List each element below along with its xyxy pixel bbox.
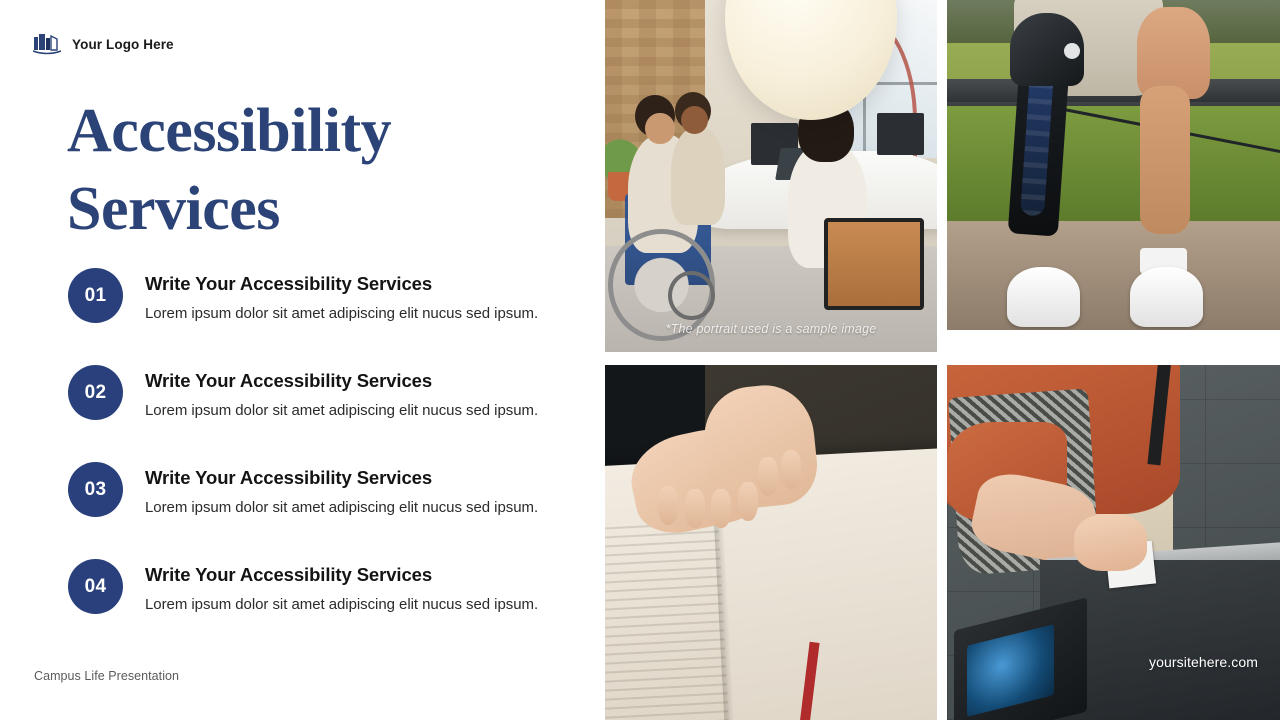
slide-root: Your Logo Here Accessibility Services 01… [0,0,1280,720]
item-text-block: Write Your Accessibility Services Lorem … [145,462,538,518]
photo-prosthetic-leg [947,0,1280,330]
photo-braille-book [605,365,937,720]
item-number-badge: 03 [68,462,123,517]
item-title: Write Your Accessibility Services [145,272,538,296]
item-number-badge: 04 [68,559,123,614]
item-title: Write Your Accessibility Services [145,563,538,587]
photo-artwork [605,365,937,720]
page-title: Accessibility Services [67,92,537,248]
sample-image-watermark: *The portrait used is a sample image [605,322,937,336]
list-item[interactable]: 03 Write Your Accessibility Services Lor… [68,462,588,518]
item-text-block: Write Your Accessibility Services Lorem … [145,365,538,421]
item-text-block: Write Your Accessibility Services Lorem … [145,559,538,615]
left-content-panel: Your Logo Here Accessibility Services 01… [0,0,605,720]
logo-lockup[interactable]: Your Logo Here [33,32,174,56]
item-description: Lorem ipsum dolor sit amet adipiscing el… [145,595,538,615]
photo-transit-gate: yoursitehere.com [947,365,1280,720]
item-title: Write Your Accessibility Services [145,466,538,490]
item-number-badge: 02 [68,365,123,420]
item-title: Write Your Accessibility Services [145,369,538,393]
page-title-line-2: Services [67,170,537,248]
item-number-badge: 01 [68,268,123,323]
page-title-line-1: Accessibility [67,92,537,170]
item-description: Lorem ipsum dolor sit amet adipiscing el… [145,401,538,421]
list-item[interactable]: 01 Write Your Accessibility Services Lor… [68,268,588,324]
building-logo-icon [33,32,61,56]
service-list: 01 Write Your Accessibility Services Lor… [68,268,588,615]
list-item[interactable]: 02 Write Your Accessibility Services Lor… [68,365,588,421]
item-text-block: Write Your Accessibility Services Lorem … [145,268,538,324]
item-description: Lorem ipsum dolor sit amet adipiscing el… [145,498,538,518]
item-description: Lorem ipsum dolor sit amet adipiscing el… [145,304,538,324]
footer-note: Campus Life Presentation [34,669,179,683]
logo-text: Your Logo Here [72,37,174,52]
photo-artwork [605,0,937,352]
site-url: yoursitehere.com [1149,654,1258,670]
photo-office-meeting: *The portrait used is a sample image [605,0,937,352]
photo-grid: *The portrait used is a sample image [605,0,1280,720]
list-item[interactable]: 04 Write Your Accessibility Services Lor… [68,559,588,615]
photo-artwork [947,0,1280,330]
